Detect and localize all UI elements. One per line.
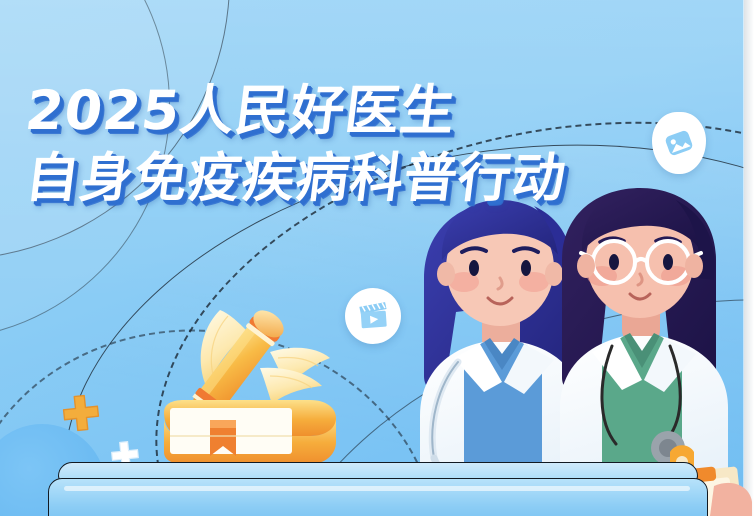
plus-marker-orange (58, 390, 104, 441)
title-line-2: 自身免疫疾病科普行动 (22, 146, 570, 212)
doctor-left-eye (469, 260, 479, 276)
promotional-poster: 2025人民好医生 自身免疫疾病科普行动 (0, 0, 754, 516)
book (164, 400, 336, 464)
doctor-right-eye (609, 254, 619, 270)
doctor-right-eye (663, 254, 673, 270)
podium-body (48, 478, 708, 516)
doctor-right-hand (710, 483, 752, 516)
image-photo-icon (662, 126, 696, 160)
photo-badge[interactable] (652, 112, 706, 174)
podium-bar (48, 462, 708, 516)
title-line-1: 2025人民好医生 (22, 78, 570, 144)
page-title: 2025人民好医生 自身免疫疾病科普行动 (26, 78, 566, 212)
podium-shine (64, 486, 690, 491)
video-clapperboard-icon (355, 299, 391, 333)
video-badge[interactable] (345, 288, 401, 344)
plus-icon (58, 390, 104, 436)
doctor-left-eye (521, 260, 531, 276)
pencil-wing-right (260, 348, 330, 404)
